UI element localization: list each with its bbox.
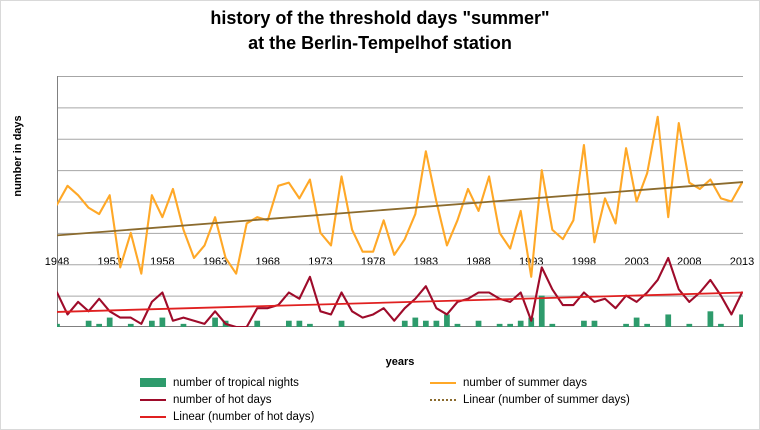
- bar-tropical-nights: [86, 321, 92, 327]
- chart-canvas: [57, 76, 743, 327]
- legend-item-hot-days[interactable]: number of hot days: [140, 394, 430, 406]
- legend-swatch-line-icon: [140, 416, 166, 418]
- bar-tropical-nights: [254, 321, 260, 327]
- bar-tropical-nights: [412, 318, 418, 327]
- bar-tropical-nights: [297, 321, 303, 327]
- bar-tropical-nights: [665, 314, 671, 327]
- legend-label: number of tropical nights: [173, 377, 299, 389]
- bar-tropical-nights: [581, 321, 587, 327]
- chart-title-line-2: at the Berlin-Tempelhof station: [0, 31, 760, 56]
- bar-tropical-nights: [286, 321, 292, 327]
- chart-title: history of the threshold days "summer" a…: [0, 6, 760, 56]
- bar-tropical-nights: [623, 324, 629, 327]
- bar-tropical-nights: [107, 318, 113, 327]
- legend-label: number of hot days: [173, 394, 271, 406]
- bar-tropical-nights: [423, 321, 429, 327]
- bar-tropical-nights: [539, 296, 545, 327]
- legend-label: Linear (number of hot days): [173, 411, 314, 423]
- series-line: [57, 258, 742, 327]
- legend-item-linear-summer-days[interactable]: Linear (number of summer days): [430, 394, 720, 406]
- bar-tropical-nights: [434, 321, 440, 327]
- bar-tropical-nights: [57, 324, 60, 327]
- plot-area: [57, 76, 743, 327]
- bar-tropical-nights: [444, 314, 450, 327]
- legend-item-tropical-nights[interactable]: number of tropical nights: [140, 377, 430, 389]
- bar-tropical-nights: [739, 314, 743, 327]
- legend-item-linear-hot-days[interactable]: Linear (number of hot days): [140, 411, 430, 423]
- bar-tropical-nights: [212, 318, 218, 327]
- bar-tropical-nights: [592, 321, 598, 327]
- legend-swatch-bar-icon: [140, 378, 166, 387]
- legend-label: number of summer days: [463, 377, 587, 389]
- trendline: [57, 182, 743, 235]
- bar-tropical-nights: [518, 321, 524, 327]
- bar-tropical-nights: [307, 324, 313, 327]
- bar-tropical-nights: [507, 324, 513, 327]
- bar-tropical-nights: [181, 324, 187, 327]
- chart-legend: number of tropical nights number of summ…: [140, 374, 760, 425]
- bar-tropical-nights: [476, 321, 482, 327]
- bar-tropical-nights: [160, 318, 166, 327]
- legend-swatch-line-icon: [430, 382, 456, 384]
- x-axis-label: years: [57, 356, 743, 368]
- series-line: [57, 117, 742, 277]
- bar-tropical-nights: [549, 324, 555, 327]
- bar-tropical-nights: [402, 321, 408, 327]
- bar-tropical-nights: [128, 324, 134, 327]
- bar-tropical-nights: [644, 324, 650, 327]
- bar-tropical-nights: [96, 324, 102, 327]
- bar-tropical-nights: [686, 324, 692, 327]
- bar-tropical-nights: [708, 311, 714, 327]
- bar-tropical-nights: [718, 324, 724, 327]
- legend-swatch-line-icon: [140, 399, 166, 401]
- legend-label: Linear (number of summer days): [463, 394, 630, 406]
- legend-item-summer-days[interactable]: number of summer days: [430, 377, 720, 389]
- bar-tropical-nights: [339, 321, 345, 327]
- bar-tropical-nights: [149, 321, 155, 327]
- y-axis-label: number in days: [12, 56, 24, 256]
- legend-swatch-dash-icon: [430, 399, 456, 401]
- chart-title-line-1: history of the threshold days "summer": [0, 6, 760, 31]
- bar-tropical-nights: [497, 324, 503, 327]
- bar-tropical-nights: [634, 318, 640, 327]
- bar-tropical-nights: [455, 324, 461, 327]
